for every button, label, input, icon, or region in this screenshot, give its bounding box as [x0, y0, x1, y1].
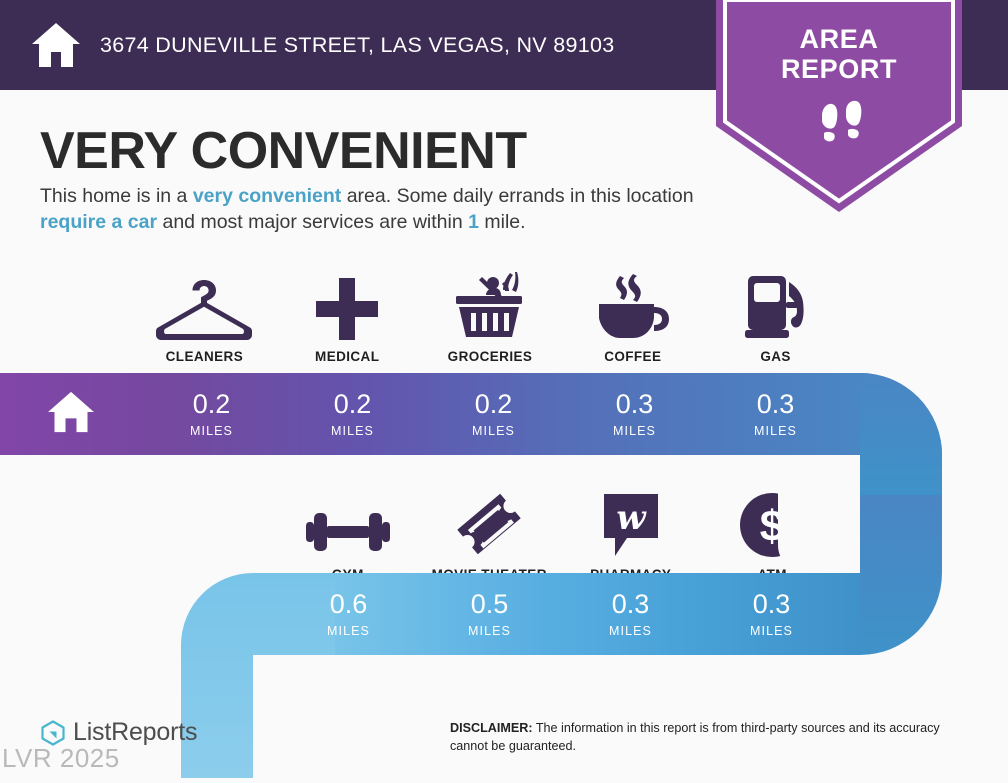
summary-part-4: mile.	[479, 211, 526, 233]
area-report-badge: AREA REPORT	[716, 0, 962, 212]
badge-title: AREA REPORT	[716, 24, 962, 84]
listreports-logo: ListReports	[40, 718, 197, 747]
category-label: GROCERIES	[448, 349, 533, 364]
summary-text: This home is in a very convenient area. …	[40, 184, 730, 235]
category-label: COFFEE	[604, 349, 661, 364]
distance-ribbon	[0, 370, 1008, 778]
home-icon	[30, 19, 82, 71]
page-title: VERY CONVENIENT	[40, 121, 527, 181]
footprints-icon	[817, 100, 865, 158]
badge-line-1: AREA	[716, 24, 962, 54]
category-label: CLEANERS	[166, 349, 243, 364]
category-groceries: GROCERIES	[419, 268, 562, 364]
listreports-pin-icon	[40, 720, 66, 746]
category-medical: MEDICAL	[276, 268, 419, 364]
property-address: 3674 DUNEVILLE STREET, LAS VEGAS, NV 891…	[100, 33, 615, 58]
summary-highlight-2: require a car	[40, 211, 157, 233]
cross-icon	[316, 268, 378, 340]
disclaimer-label: DISCLAIMER:	[450, 721, 533, 735]
badge-line-2: REPORT	[716, 54, 962, 84]
listreports-wordmark: ListReports	[73, 718, 197, 747]
basket-icon	[453, 268, 527, 340]
watermark: LVR 2025	[2, 743, 120, 774]
category-coffee: COFFEE	[561, 268, 704, 364]
category-cleaners: CLEANERS	[133, 268, 276, 364]
summary-highlight-1: very convenient	[193, 185, 341, 207]
category-icon-row-top: CLEANERS MEDICAL	[133, 268, 847, 364]
summary-part-1: This home is in a	[40, 185, 193, 207]
summary-highlight-3: 1	[468, 211, 479, 233]
summary-part-3: and most major services are within	[157, 211, 468, 233]
gas-pump-icon	[743, 268, 809, 340]
hanger-icon	[156, 268, 252, 340]
category-label: GAS	[760, 349, 790, 364]
disclaimer: DISCLAIMER: The information in this repo…	[450, 720, 970, 756]
coffee-icon	[595, 268, 671, 340]
category-gas: GAS	[704, 268, 847, 364]
category-label: MEDICAL	[315, 349, 379, 364]
summary-part-2: area. Some daily errands in this locatio…	[341, 185, 693, 207]
